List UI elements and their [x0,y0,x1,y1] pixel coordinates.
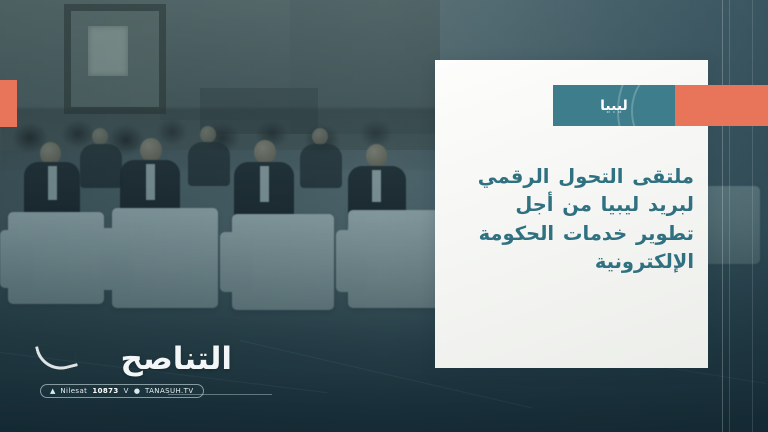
guide-line [752,0,753,432]
satellite-icon: ▲ [50,388,55,395]
globe-icon: ● [134,388,140,395]
guide-line [722,0,723,432]
left-orange-accent [0,80,17,127]
channel-info-strip: ▲ Nilesat 10873 V ● TANASUH.TV [40,384,204,398]
satellite-frequency: 10873 [92,387,118,395]
headline-text: ملتقى التحول الرقمي لبريد ليبيا من أجل ت… [452,163,694,277]
broadcast-graphic-frame: ليبيا ملتقى التحول الرقمي لبريد ليبيا من… [0,0,768,432]
country-badge[interactable]: ليبيا [553,85,675,126]
satellite-name: Nilesat [60,387,87,395]
badge-row: ليبيا [553,85,768,126]
strip-tail-line [168,394,272,395]
country-badge-label: ليبيا [600,98,628,114]
channel-logo: التناصح ▲ Nilesat 10873 V ● TANASUH.TV [36,344,236,406]
satellite-polarization: V [124,387,129,395]
guide-line [729,0,730,432]
orange-accent-bar [675,85,768,126]
